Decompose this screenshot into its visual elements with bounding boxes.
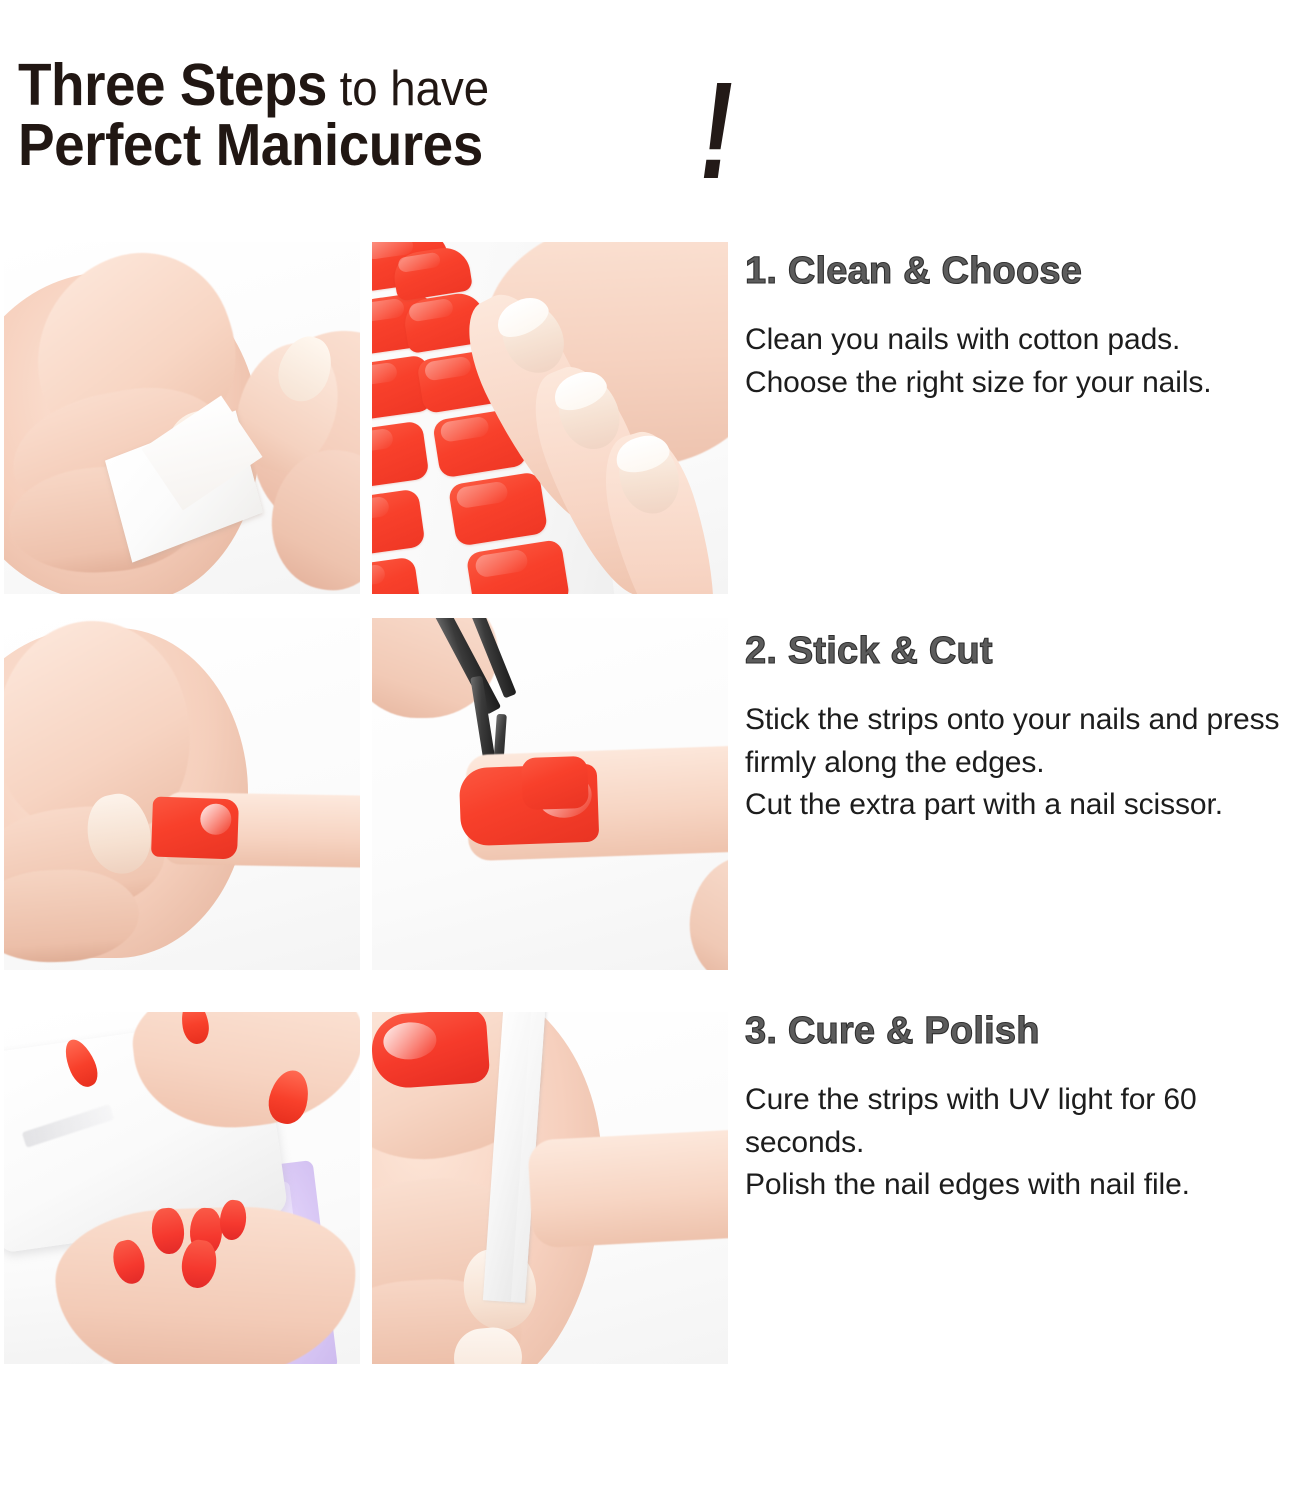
photo-red-nail-strip-sheet bbox=[372, 242, 728, 594]
photo-polish-edges-with-nail-file bbox=[372, 1012, 728, 1364]
photo-stick-strip-on-nail bbox=[4, 618, 360, 970]
red-nail-shape bbox=[372, 1012, 490, 1090]
step-3-heading: 3. Cure & Polish bbox=[745, 1010, 1300, 1053]
step-2-body: Stick the strips onto your nails and pre… bbox=[745, 699, 1300, 827]
photo-clean-nail-with-cotton-pad bbox=[4, 242, 360, 594]
step-1-body: Clean you nails with cotton pads. Choose… bbox=[745, 319, 1300, 404]
step-3-body: Cure the strips with UV light for 60 sec… bbox=[745, 1079, 1300, 1207]
step-block-1: 1. Clean & Choose Clean you nails with c… bbox=[745, 250, 1300, 404]
photo-cure-with-uv-lamp bbox=[4, 1012, 360, 1364]
step-2-heading: 2. Stick & Cut bbox=[745, 630, 1300, 673]
page-header: Three Steps to have Perfect Manicures ! bbox=[0, 0, 1300, 230]
step-block-2: 2. Stick & Cut Stick the strips onto you… bbox=[745, 630, 1300, 827]
exclamation-mark-icon: ! bbox=[700, 62, 733, 200]
red-nail-extra-part-shape bbox=[521, 756, 589, 810]
title-block: Three Steps to have Perfect Manicures bbox=[18, 58, 525, 174]
title-line-2: Perfect Manicures bbox=[18, 118, 489, 173]
red-nail-strip-shape bbox=[151, 797, 239, 860]
photo-grid bbox=[4, 242, 730, 1362]
title-bold-part: Three Steps bbox=[18, 52, 327, 118]
target-finger-shape bbox=[527, 1128, 728, 1249]
title-line-1: Three Steps to have bbox=[18, 58, 489, 113]
step-1-heading: 1. Clean & Choose bbox=[745, 250, 1300, 293]
photo-cut-strip-with-scissors bbox=[372, 618, 728, 970]
title-light-part: to have bbox=[327, 62, 489, 116]
step-block-3: 3. Cure & Polish Cure the strips with UV… bbox=[745, 1010, 1300, 1207]
